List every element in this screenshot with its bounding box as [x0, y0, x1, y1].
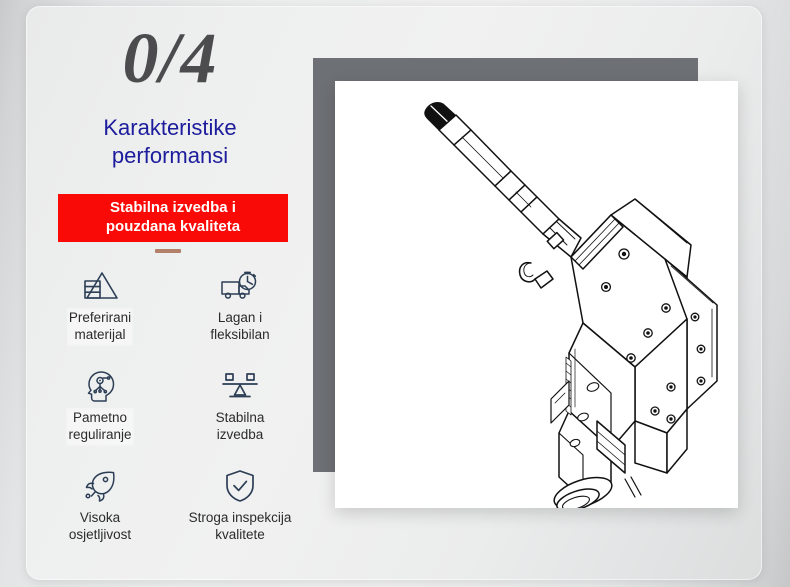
- rocket-icon: [79, 466, 121, 506]
- slide-stage: 0/4 Karakteristike performansi Stabilna …: [0, 0, 790, 587]
- feature-item-light-flexible[interactable]: Lagan i fleksibilan: [170, 264, 310, 364]
- shield-check-icon: [219, 466, 261, 506]
- feature-label: Visoka osjetljivost: [69, 510, 131, 544]
- feature-item-high-sensitivity[interactable]: Visoka osjetljivost: [30, 464, 170, 564]
- layers-triangle-icon: [79, 266, 121, 306]
- feature-label: Stabilna izvedba: [216, 410, 265, 444]
- page-title: Karakteristike performansi: [30, 114, 310, 170]
- feature-item-smart-regulation[interactable]: Pametno reguliranje: [30, 364, 170, 464]
- status-banner: Stabilna izvedba i pouzdana kvaliteta: [58, 194, 288, 242]
- delivery-truck-stopwatch-icon: [219, 266, 261, 306]
- feature-label: Lagan i fleksibilan: [210, 310, 269, 344]
- feature-grid: Preferirani materijal: [30, 264, 310, 564]
- divider: [155, 249, 181, 253]
- feature-label: Preferirani materijal: [69, 310, 131, 344]
- slide-number: 0/4: [30, 22, 310, 94]
- status-banner-text: Stabilna izvedba i pouzdana kvaliteta: [106, 199, 240, 237]
- ai-head-circuit-icon: [79, 366, 121, 406]
- product-image-card: [335, 81, 738, 508]
- feature-item-strict-quality-inspection[interactable]: Stroga inspekcija kvalitete: [170, 464, 310, 564]
- feature-item-preferred-material[interactable]: Preferirani materijal: [30, 264, 170, 364]
- feature-label: Pametno reguliranje: [68, 410, 131, 444]
- balance-seesaw-icon: [219, 366, 261, 406]
- laser-welding-gun-line-drawing: [335, 81, 738, 508]
- feature-item-stable-performance[interactable]: Stabilna izvedba: [170, 364, 310, 464]
- left-content-column: 0/4 Karakteristike performansi Stabilna …: [30, 14, 310, 564]
- feature-label: Stroga inspekcija kvalitete: [189, 510, 292, 544]
